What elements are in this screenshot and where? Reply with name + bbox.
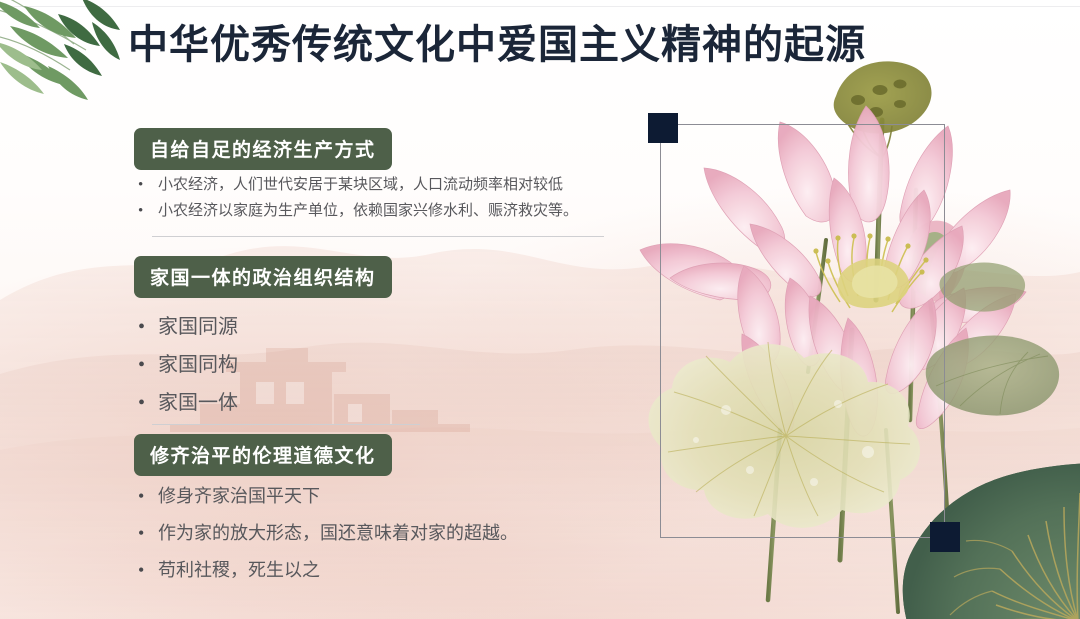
section-divider-2 <box>152 424 420 425</box>
bullet-list-politics: 家国同源 家国同构 家国一体 <box>134 308 238 422</box>
list-item: 修身齐家治国平天下 <box>134 478 518 515</box>
section-badge-ethics: 修齐治平的伦理道德文化 <box>134 434 392 476</box>
list-item: 小农经济，人们世代安居于某块区域，人口流动频率相对较低 <box>134 172 578 198</box>
bullet-list-economy: 小农经济，人们世代安居于某块区域，人口流动频率相对较低 小农经济以家庭为生产单位… <box>134 172 578 224</box>
section-badge-economy: 自给自足的经济生产方式 <box>134 128 392 170</box>
decorative-frame <box>660 124 945 538</box>
section-divider-1 <box>152 236 604 237</box>
section-badge-politics: 家国一体的政治组织结构 <box>134 256 392 298</box>
bullet-list-ethics: 修身齐家治国平天下 作为家的放大形态，国还意味着对家的超越。 苟利社稷，死生以之 <box>134 478 518 589</box>
list-item: 家国同源 <box>134 308 238 346</box>
list-item: 小农经济以家庭为生产单位，依赖国家兴修水利、赈济救灾等。 <box>134 198 578 224</box>
list-item: 作为家的放大形态，国还意味着对家的超越。 <box>134 515 518 552</box>
list-item: 苟利社稷，死生以之 <box>134 552 518 589</box>
content-column: 自给自足的经济生产方式 小农经济，人们世代安居于某块区域，人口流动频率相对较低 … <box>0 0 660 619</box>
slide: 中华优秀传统文化中爱国主义精神的起源 自给自足的经济生产方式 小农经济，人们世代… <box>0 0 1080 619</box>
list-item: 家国同构 <box>134 346 238 384</box>
corner-square-bottom-right <box>930 522 960 552</box>
list-item: 家国一体 <box>134 384 238 422</box>
